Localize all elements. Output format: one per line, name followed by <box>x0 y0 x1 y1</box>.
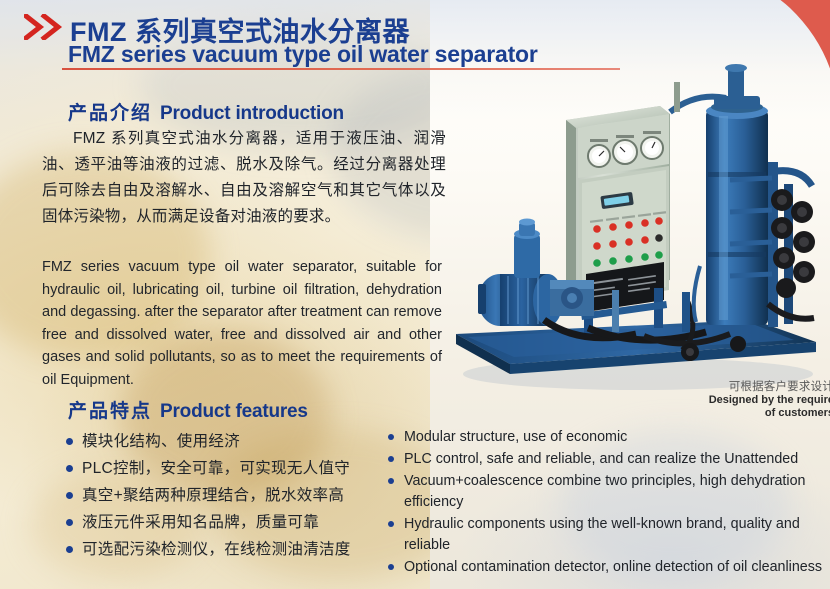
list-item: 可选配污染检测仪，在线检测油清洁度 <box>64 536 394 563</box>
photo-caption-cn: 可根据客户要求设计 <box>684 378 830 394</box>
list-item: Hydraulic components using the well-know… <box>386 514 824 556</box>
features-heading: 产品特点Product features <box>68 396 308 423</box>
separator-machine-illustration <box>438 52 830 397</box>
features-list-en: Modular structure, use of economic PLC c… <box>386 427 824 579</box>
list-item: PLC控制，安全可靠，可实现无人值守 <box>64 455 394 482</box>
features-heading-en: Product features <box>160 401 308 422</box>
photo-caption: 可根据客户要求设计 Designed by the require of cus… <box>684 378 830 420</box>
list-item: Modular structure, use of economic <box>386 427 824 448</box>
list-item: 真空+聚结两种原理结合，脱水效率高 <box>64 482 394 509</box>
introduction-body-cn: FMZ 系列真空式油水分离器，适用于液压油、润滑油、透平油等油液的过滤、脱水及除… <box>42 126 446 230</box>
list-item: PLC control, safe and reliable, and can … <box>386 449 824 470</box>
introduction-heading: 产品介绍Product introduction <box>68 98 344 125</box>
page-title-en: FMZ series vacuum type oil water separat… <box>68 41 538 68</box>
title-underline <box>62 68 620 70</box>
brochure-page: FMZ 系列真空式油水分离器 FMZ series vacuum type oi… <box>0 0 830 589</box>
introduction-heading-en: Product introduction <box>160 103 344 124</box>
introduction-heading-cn: 产品介绍 <box>68 103 152 124</box>
double-chevron-right-icon <box>24 14 66 40</box>
introduction-body-en: FMZ series vacuum type oil water separat… <box>42 256 442 391</box>
features-list-cn: 模块化结构、使用经济 PLC控制，安全可靠，可实现无人值守 真空+聚结两种原理结… <box>64 428 394 563</box>
photo-caption-en-line1: Designed by the require <box>684 394 830 407</box>
product-photo <box>438 52 830 397</box>
list-item: Optional contamination detector, online … <box>386 557 824 578</box>
list-item: 模块化结构、使用经济 <box>64 428 394 455</box>
list-item: 液压元件采用知名品牌，质量可靠 <box>64 509 394 536</box>
list-item: Vacuum+coalescence combine two principle… <box>386 471 824 513</box>
photo-caption-en-line2: of customers <box>684 407 830 420</box>
features-heading-cn: 产品特点 <box>68 401 152 422</box>
